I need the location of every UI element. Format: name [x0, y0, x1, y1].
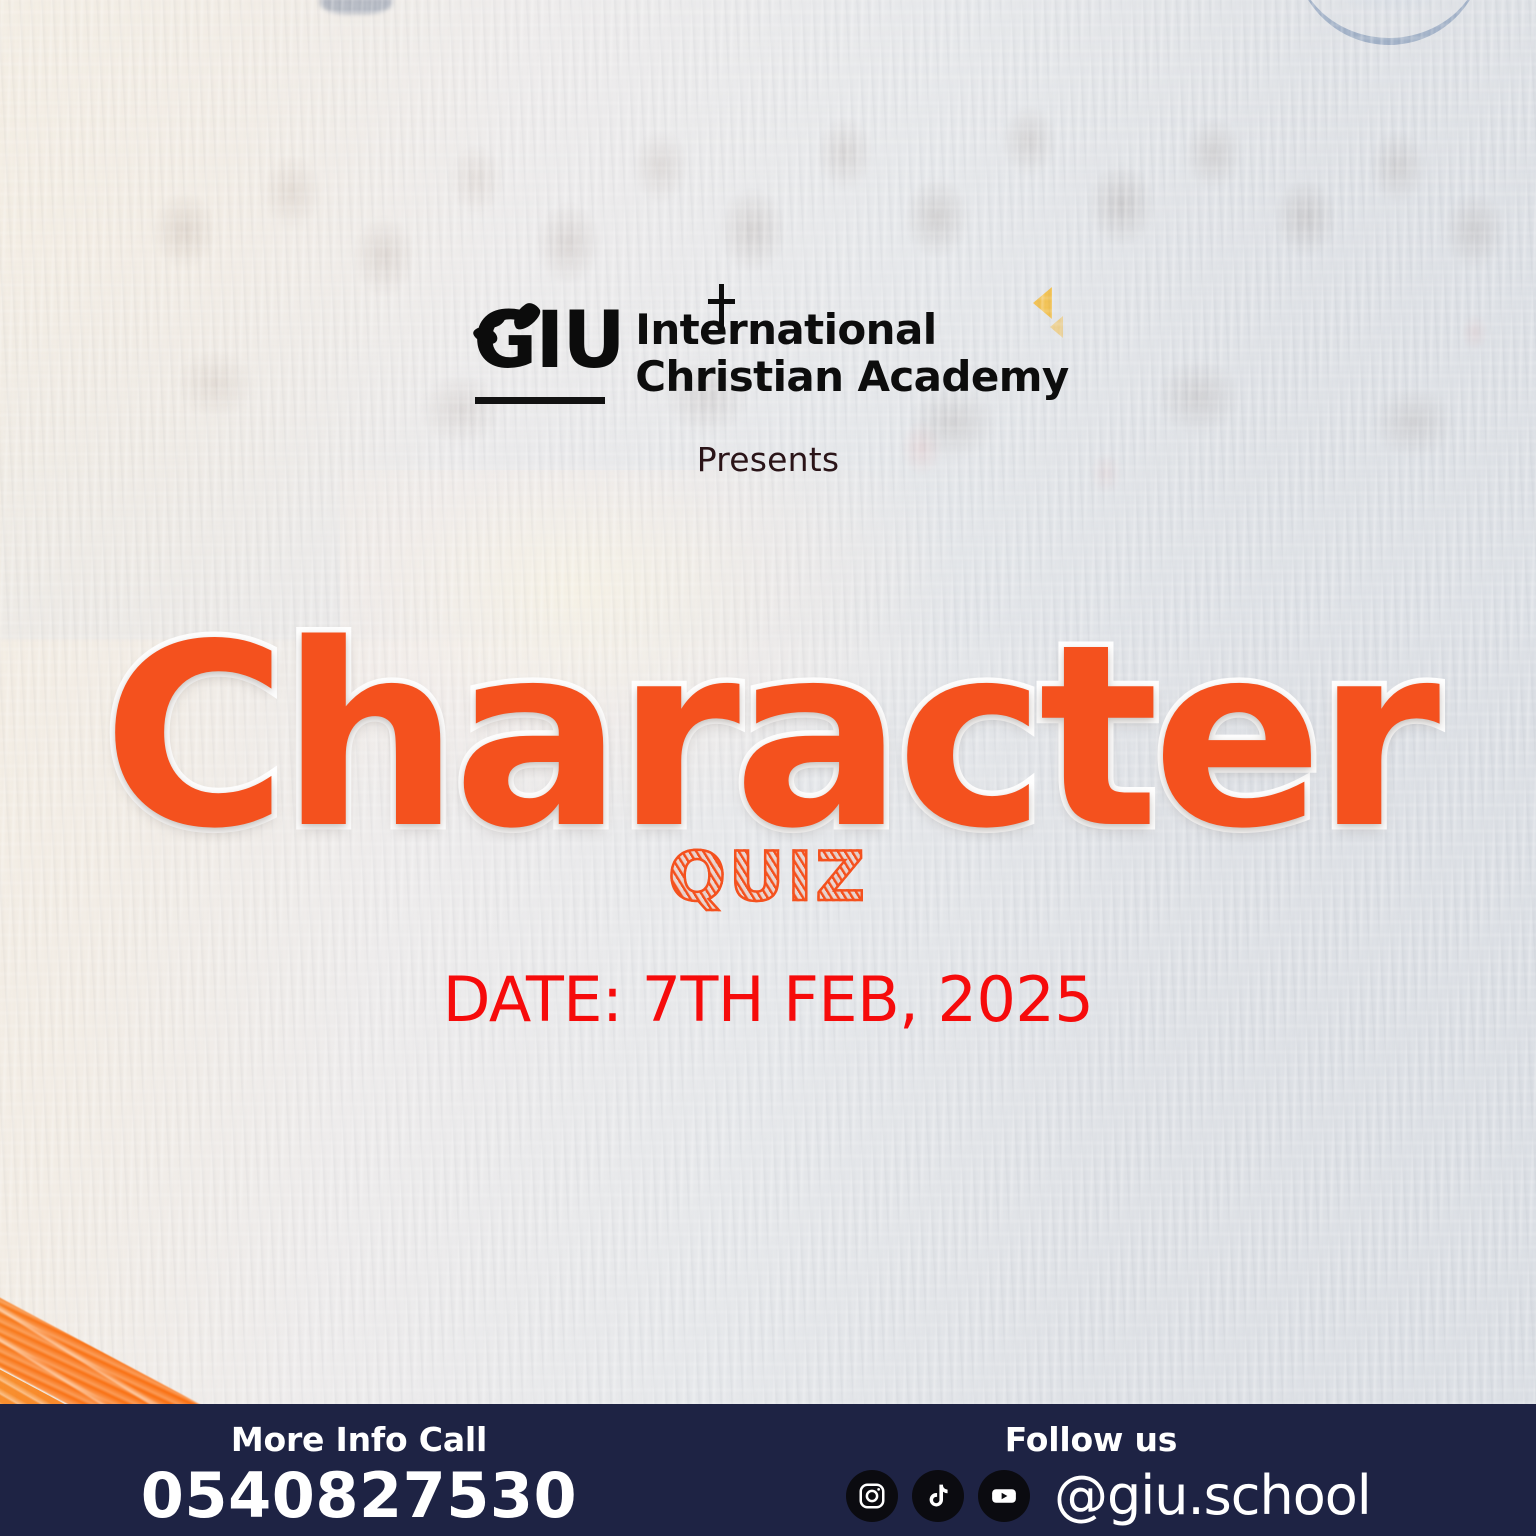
- logo-line-2: Christian Academy: [635, 353, 1068, 400]
- instagram-icon[interactable]: [846, 1470, 898, 1522]
- event-date: DATE: 7TH FEB, 2025: [0, 963, 1536, 1036]
- social-handle[interactable]: @giu.school: [1054, 1466, 1371, 1526]
- footer-social-group: Follow us: [798, 1404, 1536, 1526]
- contact-phone[interactable]: 0540827530: [0, 1460, 718, 1532]
- logo-line-1: International: [635, 306, 1068, 353]
- logo-underline: [475, 397, 605, 404]
- giu-splash-mark-icon: GIU: [467, 300, 615, 408]
- contact-label: More Info Call: [0, 1420, 718, 1460]
- poster-content: GIU International Christian Academy Pres…: [0, 0, 1536, 1536]
- footer-contact-group: More Info Call 0540827530: [0, 1404, 798, 1532]
- event-subtitle: QUIZ: [0, 838, 1536, 917]
- youtube-icon[interactable]: [978, 1470, 1030, 1522]
- follow-label: Follow us: [926, 1420, 1256, 1460]
- presents-label: Presents: [0, 440, 1536, 479]
- logo-wordmark: International Christian Academy: [635, 300, 1068, 400]
- brand-logo: GIU International Christian Academy: [0, 300, 1536, 408]
- footer-bar: More Info Call 0540827530 Follow us: [0, 1404, 1536, 1536]
- cross-icon: [719, 284, 724, 334]
- event-title: Character: [0, 612, 1536, 864]
- social-links: @giu.school: [846, 1466, 1536, 1526]
- tiktok-icon[interactable]: [912, 1470, 964, 1522]
- poster-canvas: GIU International Christian Academy Pres…: [0, 0, 1536, 1536]
